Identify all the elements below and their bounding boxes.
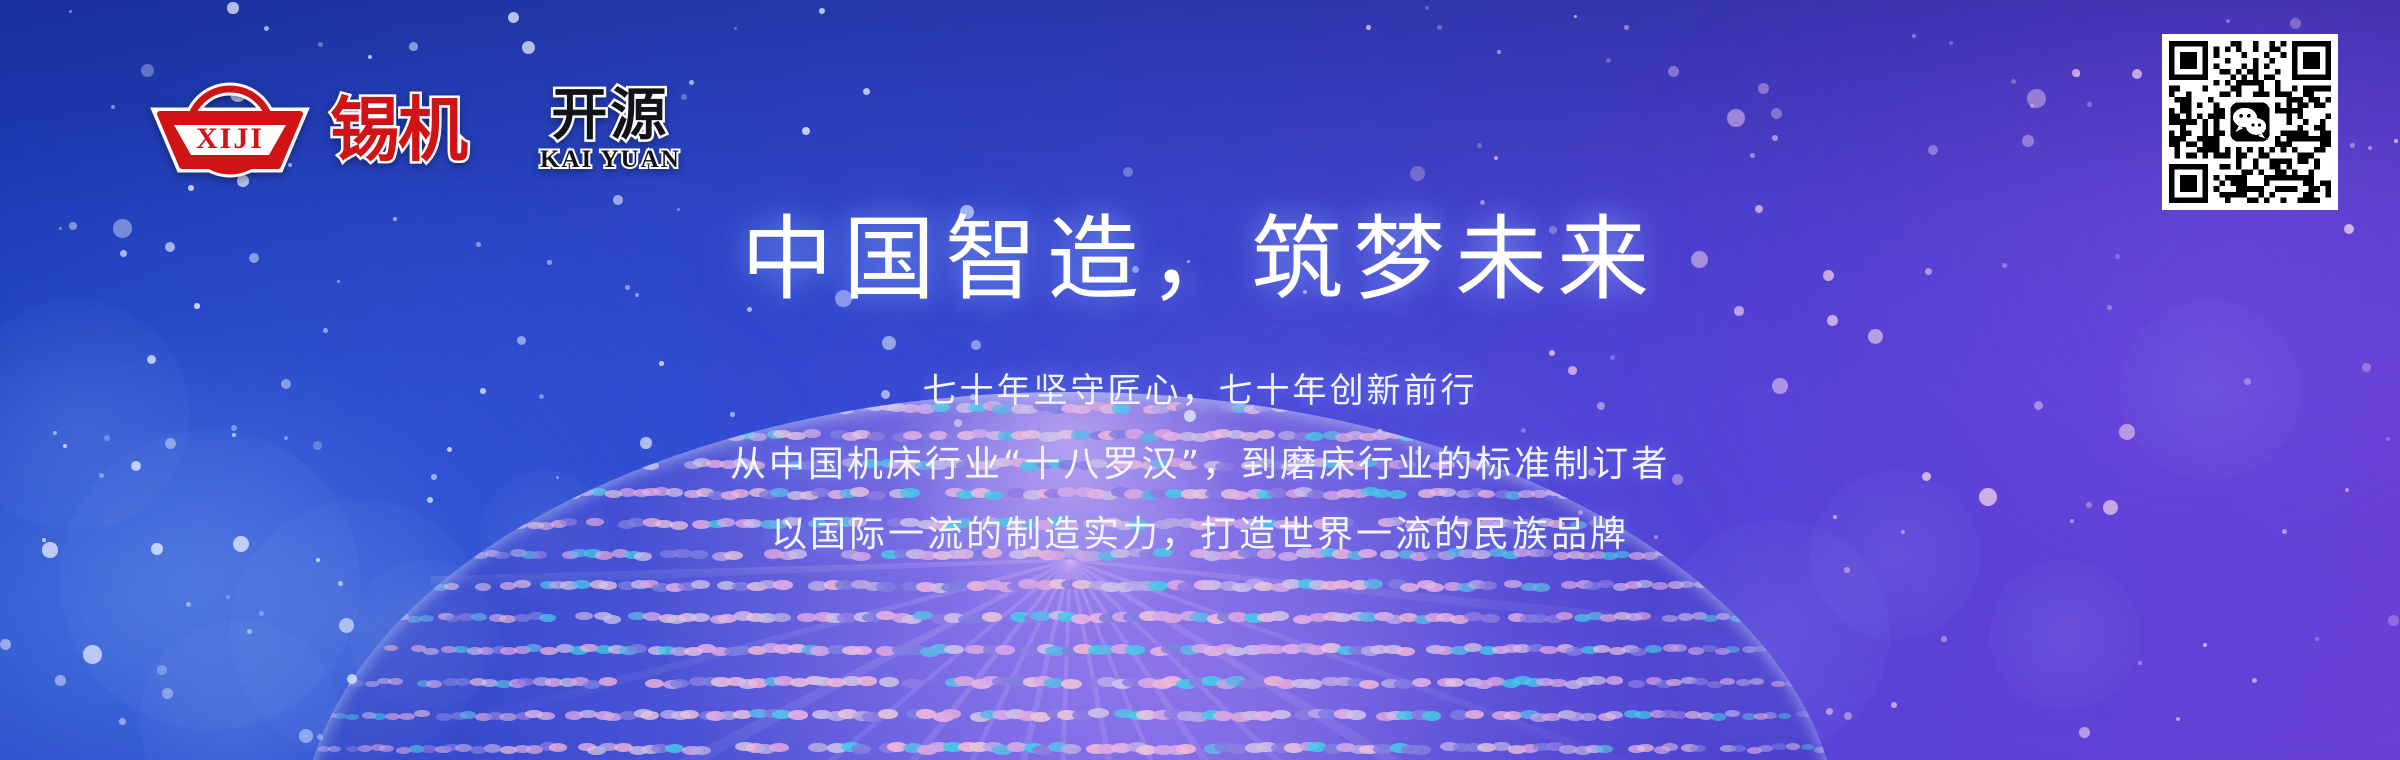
sub-brand-cn: 开源 — [540, 88, 681, 144]
company-name-cn: 锡机 — [330, 95, 466, 165]
xiji-badge-text: XIJI — [196, 122, 264, 155]
brand-logo[interactable]: XIJI 锡机 开源 KAI YUAN — [150, 78, 681, 182]
promo-banner: XIJI 锡机 开源 KAI YUAN 中国智造，筑梦未来 七十年坚守匠心，七十… — [0, 0, 2400, 760]
wechat-qr-code-icon[interactable] — [2162, 34, 2338, 210]
wechat-logo-icon — [2230, 102, 2269, 141]
dotted-globe-icon — [300, 392, 1840, 760]
sub-brand-lockup: 开源 KAI YUAN — [540, 88, 681, 172]
sub-brand-en: KAI YUAN — [540, 147, 681, 172]
xiji-emblem-icon: XIJI — [150, 78, 310, 182]
